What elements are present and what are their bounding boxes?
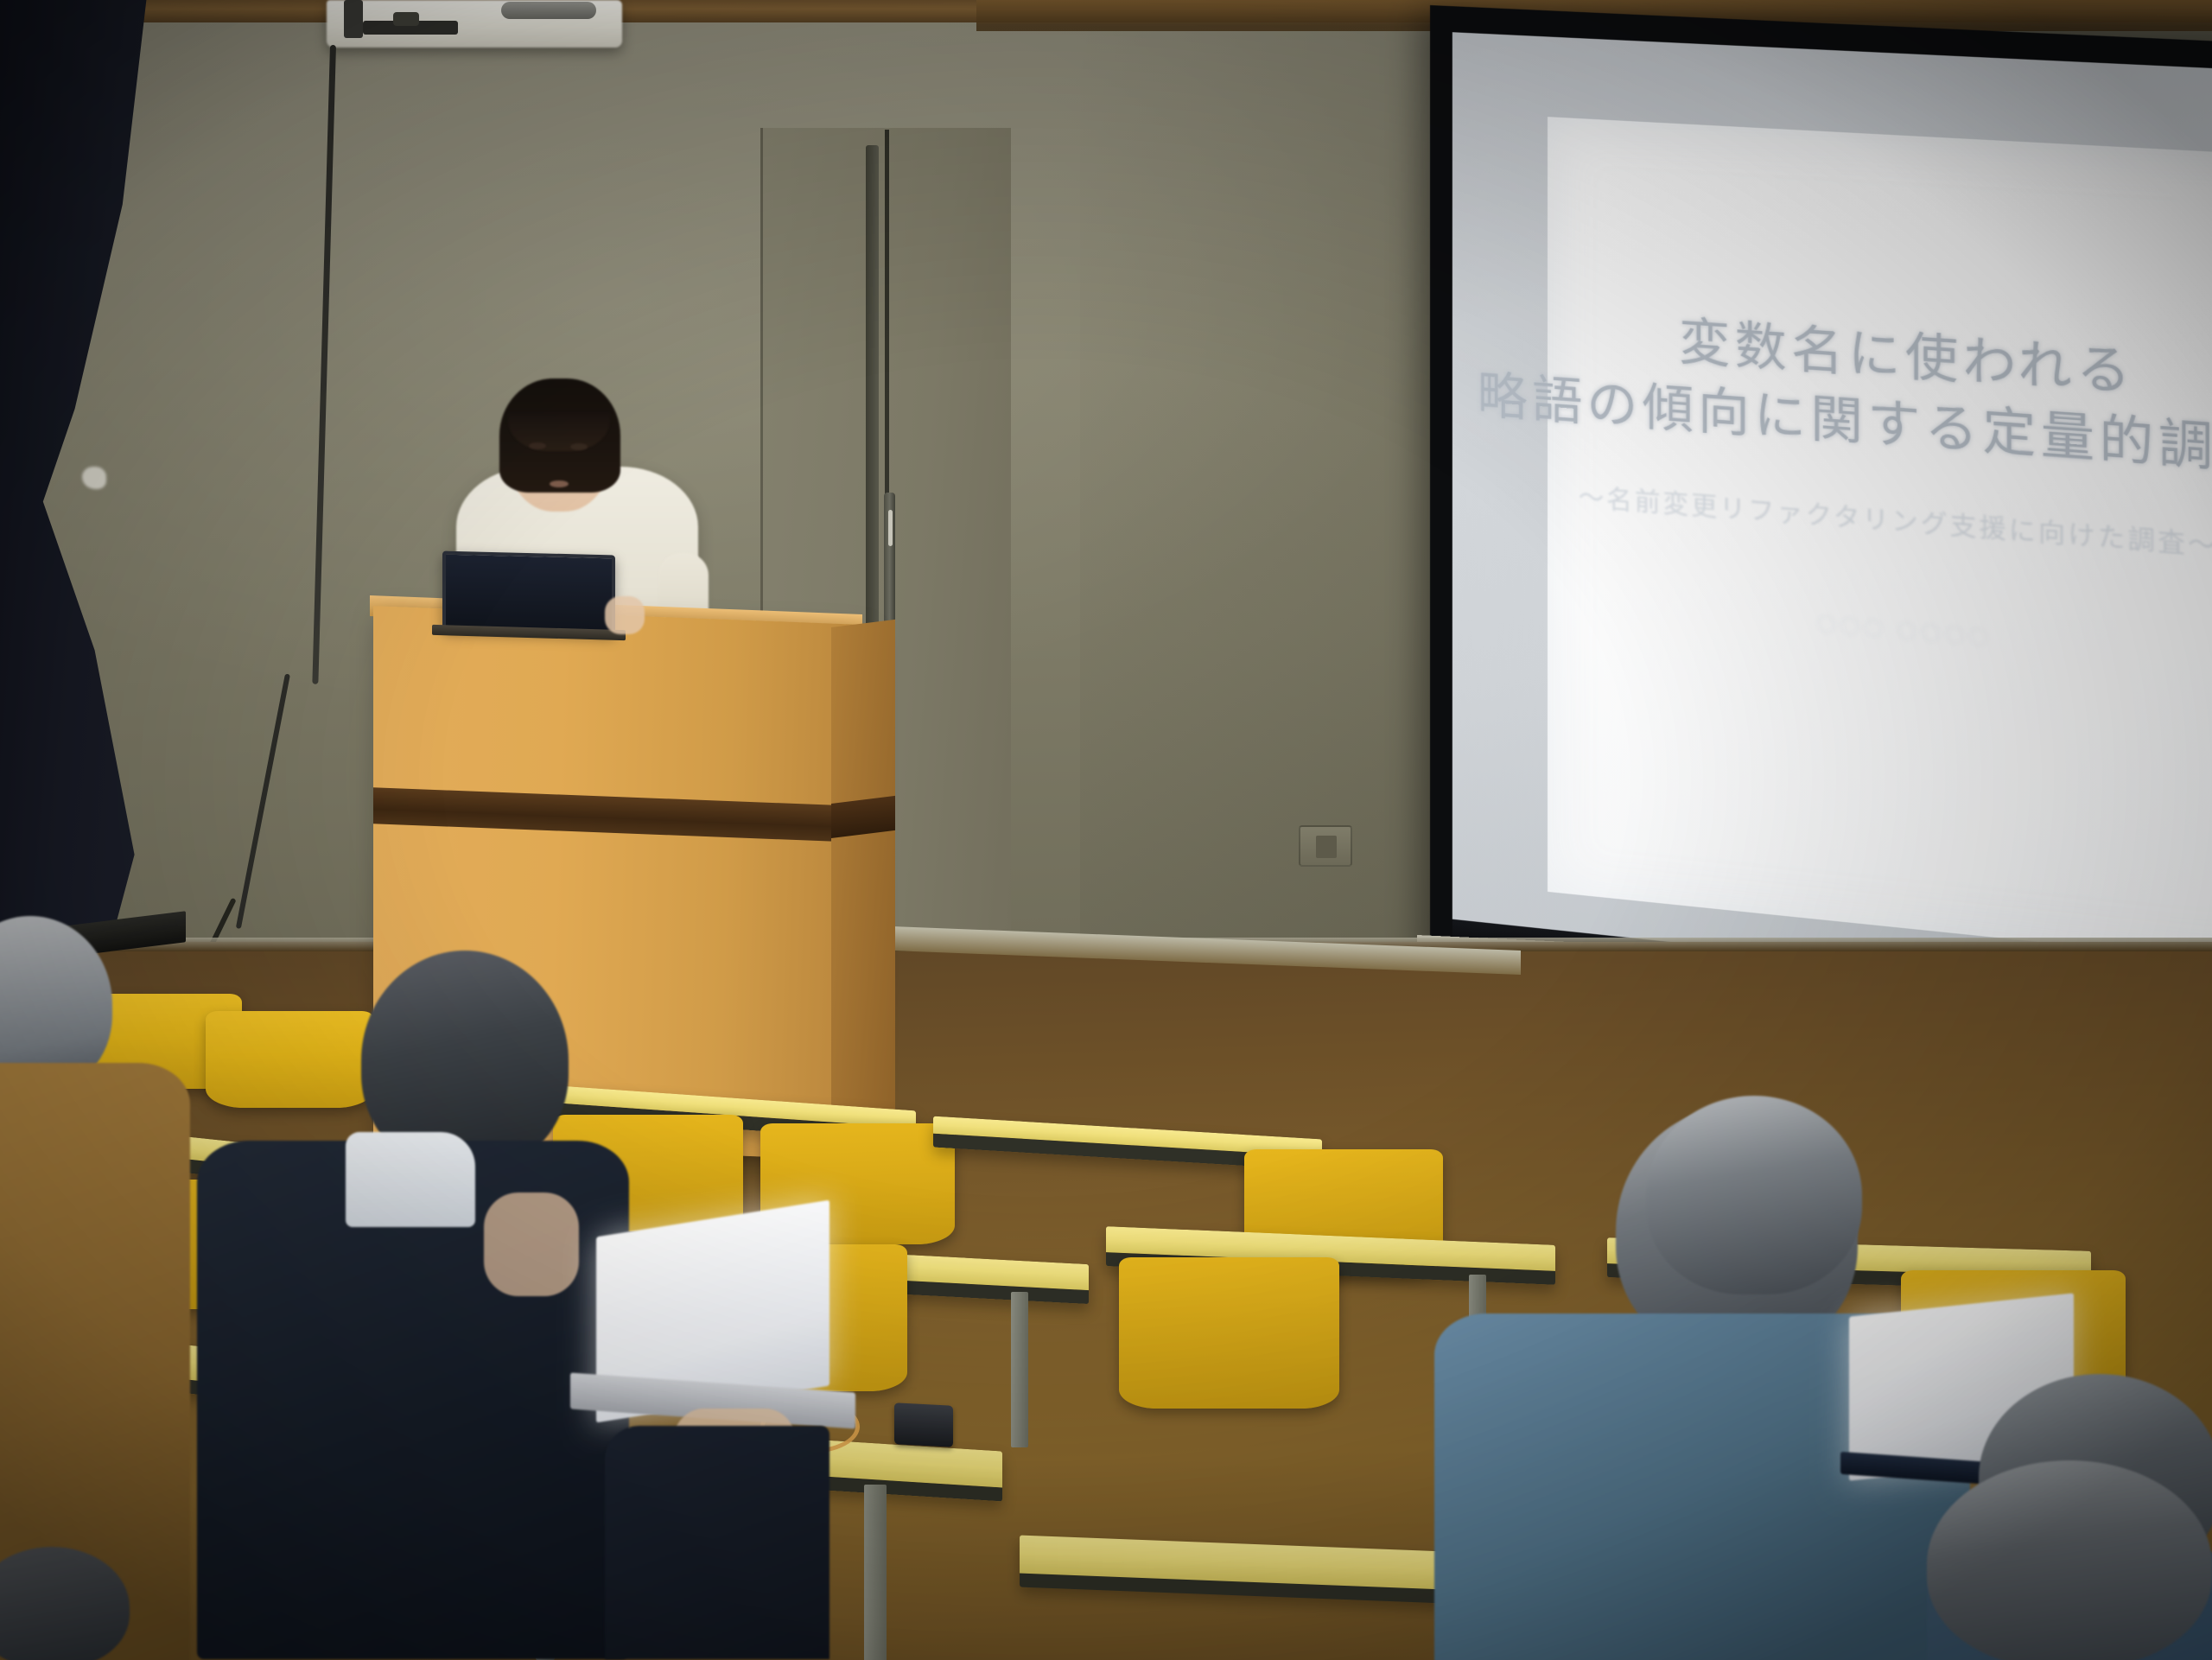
black-device[interactable] xyxy=(894,1402,953,1447)
chair-back-left-2[interactable] xyxy=(206,1011,374,1108)
chair-row2-right[interactable] xyxy=(1119,1257,1339,1409)
attendee-front-laptop-ear-neck xyxy=(484,1193,579,1296)
attendee-front-laptop-arm xyxy=(605,1426,829,1659)
presenter-eye-left xyxy=(529,442,546,449)
presenter-hand xyxy=(605,596,645,634)
desk-leg-2 xyxy=(1011,1292,1028,1447)
projector-adjust-knob xyxy=(393,12,419,26)
presenter-mouth xyxy=(550,480,569,487)
door-handle-highlight xyxy=(888,510,893,546)
podium-laptop[interactable] xyxy=(442,551,615,635)
slide-footer: 〇〇〇 〇〇〇〇 xyxy=(1816,608,1992,652)
attendee-bottom-right-head xyxy=(1927,1460,2212,1660)
projected-slide: 変数名に使われる 略語の傾向に関する定量的調査 ～名前変更リファクタリング支援に… xyxy=(1548,117,2212,966)
presenter-eye-right xyxy=(570,443,588,450)
podium-side-panel xyxy=(831,620,895,1146)
projector-mount-arm xyxy=(344,0,363,38)
curtain-light-gap xyxy=(82,467,106,489)
screen-surface: 変数名に使われる 略語の傾向に関する定量的調査 ～名前変更リファクタリング支援に… xyxy=(1452,32,2212,1007)
attendee-right-blue-hair xyxy=(1646,1096,1862,1294)
desk-leg-front-2 xyxy=(864,1485,887,1660)
lecture-hall-photo: 変数名に使われる 略語の傾向に関する定量的調査 ～名前変更リファクタリング支援に… xyxy=(0,0,2212,1660)
wall-outlet[interactable] xyxy=(1299,825,1352,867)
projection-screen: 変数名に使われる 略語の傾向に関する定量的調査 ～名前変更リファクタリング支援に… xyxy=(1430,5,2212,1059)
projector-lens-icon xyxy=(501,2,596,19)
slide-subtitle: ～名前変更リファクタリング支援に向けた調査～ xyxy=(1579,477,2212,563)
attendee-front-laptop-collar xyxy=(346,1132,475,1227)
